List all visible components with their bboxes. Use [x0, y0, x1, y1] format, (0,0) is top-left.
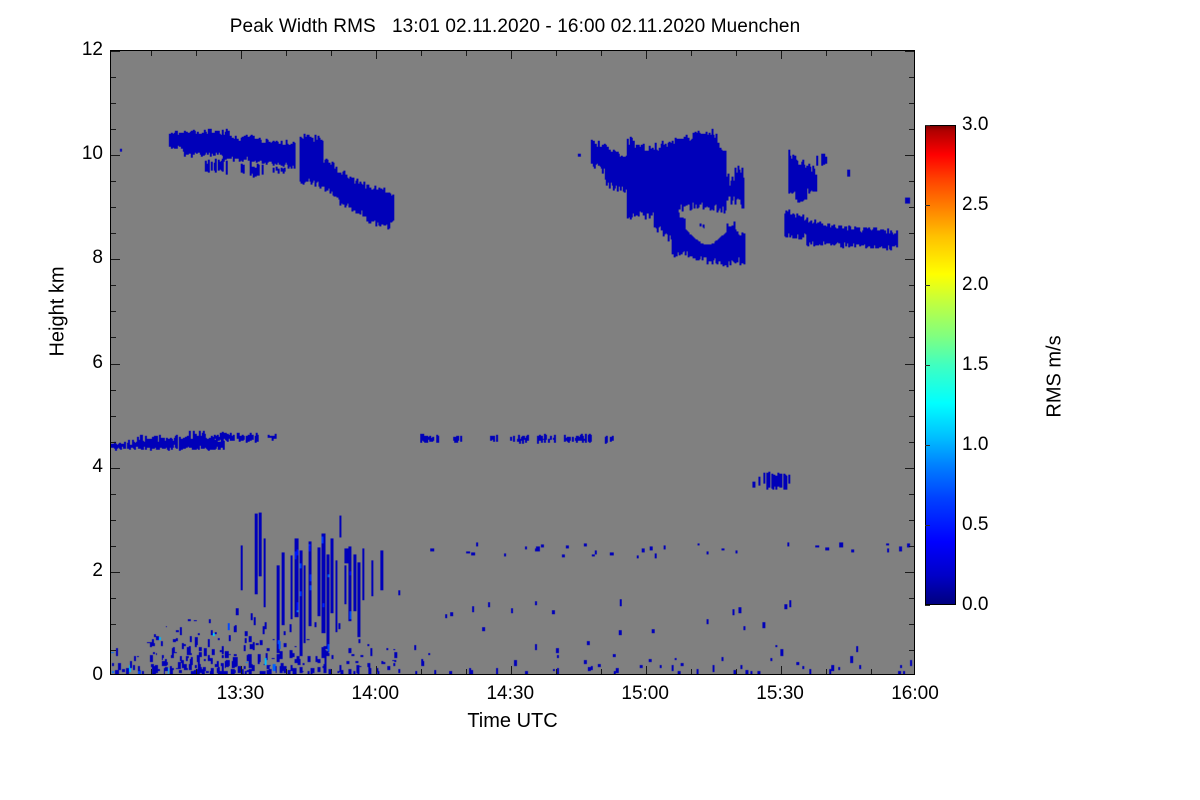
y-tick-label: 8	[92, 247, 103, 269]
x-tick-label: 15:30	[756, 683, 804, 705]
y-tick-label: 12	[82, 39, 103, 61]
colorbar-title: RMS m/s	[1044, 277, 1067, 477]
x-tick-label: 14:30	[486, 683, 534, 705]
colorbar-tick	[925, 125, 930, 126]
x-tick-label: 13:30	[217, 683, 265, 705]
y-tick-label: 4	[92, 456, 103, 478]
y-tick-label: 6	[92, 352, 103, 374]
colorbar-tick	[925, 445, 930, 446]
page-title: Peak Width RMS 13:01 02.11.2020 - 16:00 …	[0, 16, 1030, 38]
colorbar-tick	[925, 525, 930, 526]
y-tick-label: 2	[92, 560, 103, 582]
colorbar-tick-labels: 0.00.51.01.52.02.53.0	[962, 125, 1022, 605]
y-tick-label: 10	[82, 143, 103, 165]
colorbar-tick-label: 1.0	[962, 434, 988, 456]
heatmap-data-layer	[111, 51, 914, 674]
colorbar-tick-label: 1.5	[962, 354, 988, 376]
colorbar-tick-label: 2.0	[962, 274, 988, 296]
colorbar-tick-label: 0.0	[962, 594, 988, 616]
plot-axes-area	[110, 50, 915, 675]
x-axis-tick-labels: 13:3014:0014:3015:0015:3016:00	[110, 683, 915, 709]
colorbar-tick	[925, 285, 930, 286]
colorbar-tick	[925, 605, 930, 606]
x-tick-label: 14:00	[352, 683, 400, 705]
colorbar-tick	[925, 365, 930, 366]
y-axis-title: Height km	[47, 212, 70, 412]
colorbar-tick-label: 3.0	[962, 114, 988, 136]
x-tick-label: 15:00	[621, 683, 669, 705]
y-tick-label: 0	[92, 664, 103, 686]
x-axis-title: Time UTC	[110, 710, 915, 733]
figure-canvas: Peak Width RMS 13:01 02.11.2020 - 16:00 …	[0, 0, 1200, 800]
colorbar-tick-label: 2.5	[962, 194, 988, 216]
colorbar-tick-label: 0.5	[962, 514, 988, 536]
x-tick-label: 16:00	[891, 683, 939, 705]
colorbar-tick	[925, 205, 930, 206]
